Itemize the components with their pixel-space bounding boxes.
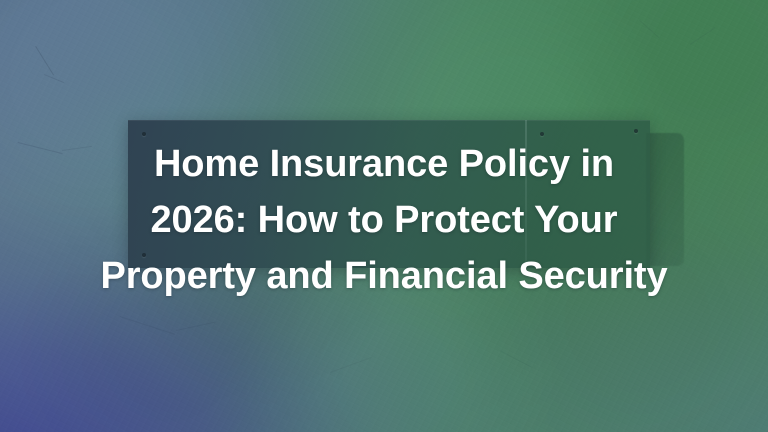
hero-title-line-3: Property and Financial Security <box>100 248 667 304</box>
hero-title: Home Insurance Policy in 2026: How to Pr… <box>0 136 768 304</box>
hero-title-line-2: 2026: How to Protect Your <box>151 192 618 248</box>
hero-title-line-1: Home Insurance Policy in <box>154 136 614 192</box>
hero-banner: Home Insurance Policy in 2026: How to Pr… <box>0 0 768 432</box>
